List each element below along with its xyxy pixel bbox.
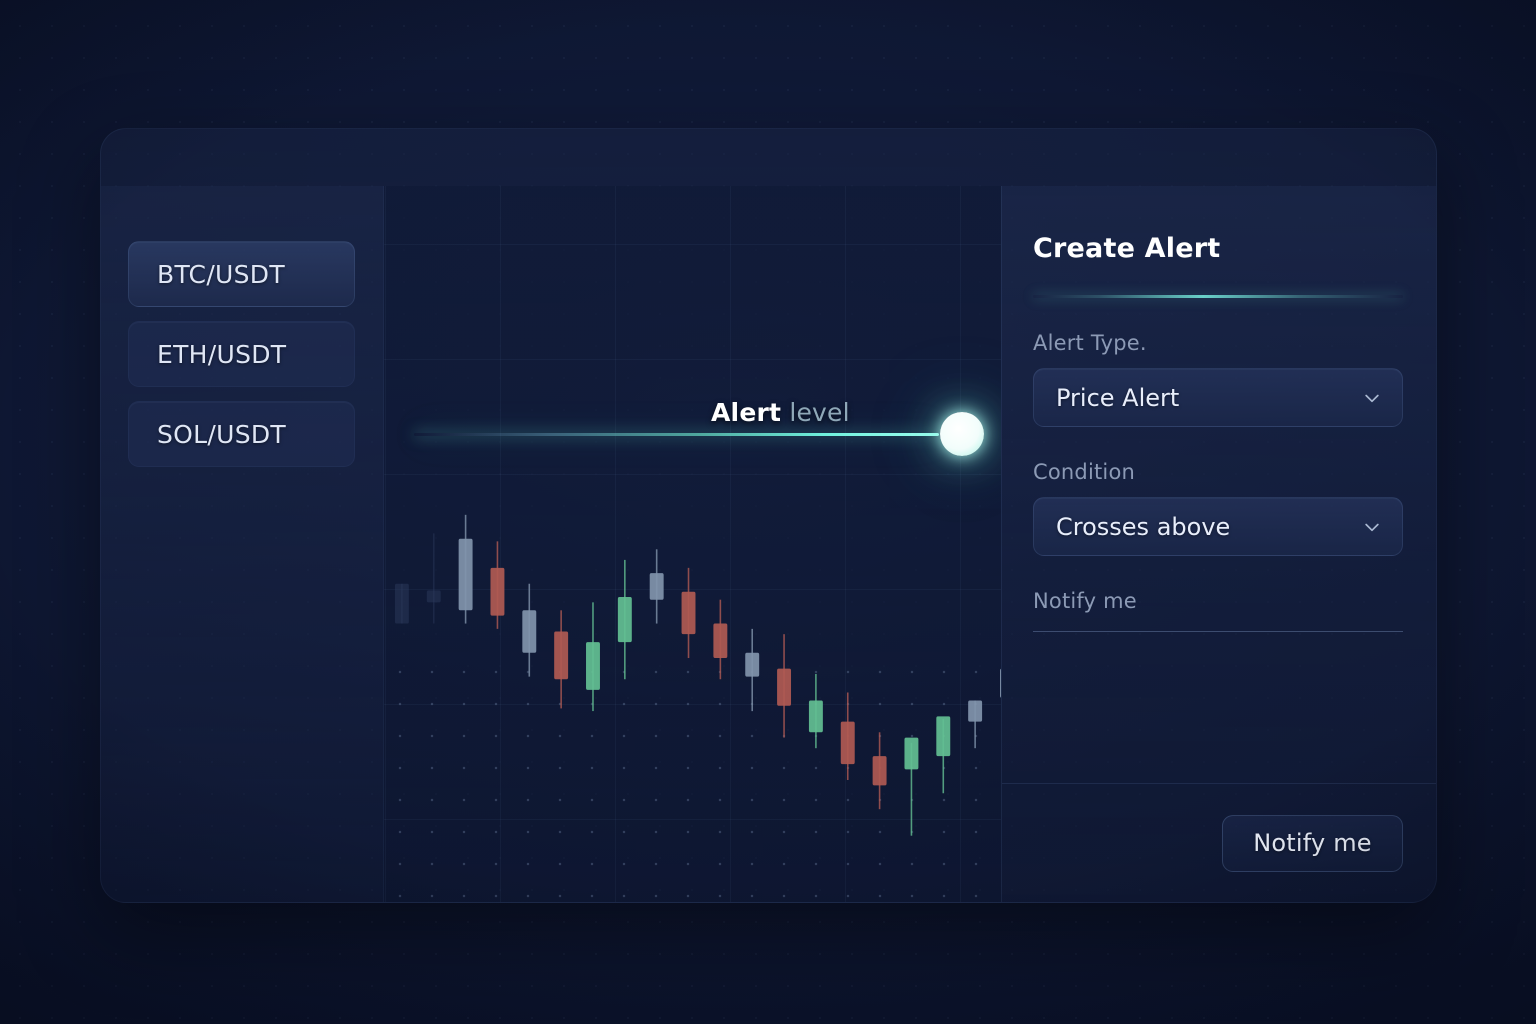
alert-type-select[interactable]: Price Alert	[1033, 368, 1403, 427]
alert-label-bold: Alert	[711, 398, 781, 427]
candlestick-series	[384, 186, 1001, 902]
field-condition: Condition Crosses above	[1033, 460, 1403, 556]
alert-drag-handle-icon[interactable]	[940, 412, 984, 456]
sidebar-item-eth-usdt[interactable]: ETH/USDT	[128, 321, 355, 387]
alert-level-label: Alert level	[711, 398, 850, 427]
create-alert-panel: Create Alert Alert Type. Price Alert Con…	[1001, 186, 1436, 902]
field-alert-type: Alert Type. Price Alert	[1033, 331, 1403, 427]
trading-alert-card: BTC/USDT ETH/USDT SOL/USDT Alert level	[100, 128, 1437, 903]
alert-label-muted: level	[789, 398, 849, 427]
panel-title: Create Alert	[1033, 233, 1403, 264]
notify-me-button[interactable]: Notify me	[1222, 815, 1403, 872]
panel-footer: Notify me	[1002, 783, 1436, 902]
alert-level-line[interactable]	[414, 433, 939, 436]
chevron-down-icon	[1362, 388, 1382, 408]
sidebar-item-label: BTC/USDT	[157, 260, 285, 289]
condition-select[interactable]: Crosses above	[1033, 497, 1403, 556]
alert-type-value: Price Alert	[1056, 384, 1179, 412]
condition-value: Crosses above	[1056, 513, 1230, 541]
notify-me-input[interactable]	[1033, 631, 1403, 632]
field-label: Condition	[1033, 460, 1403, 484]
sidebar-item-label: SOL/USDT	[157, 420, 286, 449]
panel-divider	[1033, 295, 1403, 298]
field-notify-me: Notify me	[1033, 589, 1403, 632]
chevron-down-icon	[1362, 517, 1382, 537]
sidebar-item-btc-usdt[interactable]: BTC/USDT	[128, 241, 355, 307]
field-label: Alert Type.	[1033, 331, 1403, 355]
price-chart[interactable]: Alert level	[384, 186, 1001, 902]
sidebar-item-label: ETH/USDT	[157, 340, 286, 369]
sidebar-item-sol-usdt[interactable]: SOL/USDT	[128, 401, 355, 467]
field-label: Notify me	[1033, 589, 1403, 613]
pairs-sidebar: BTC/USDT ETH/USDT SOL/USDT	[101, 186, 384, 902]
